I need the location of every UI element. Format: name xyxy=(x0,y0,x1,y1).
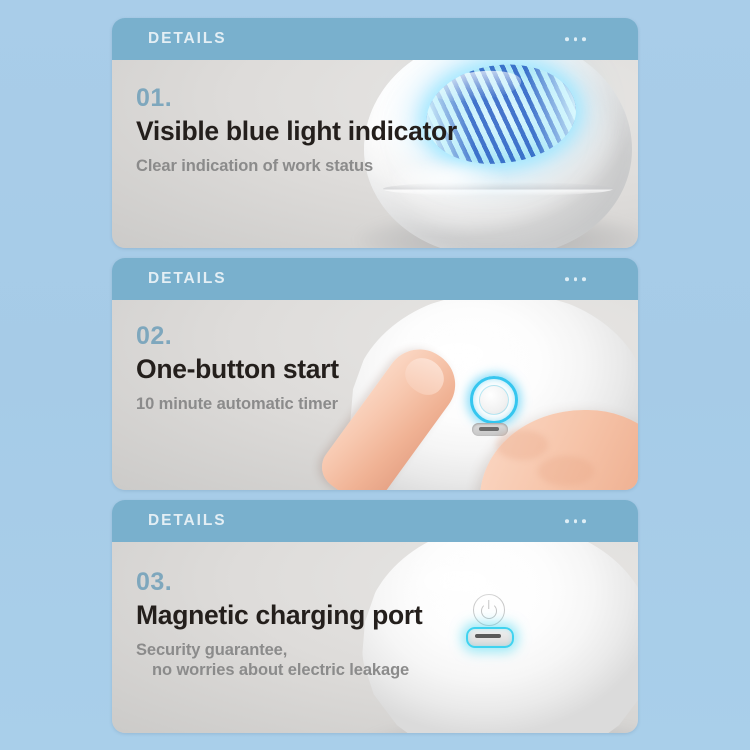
card-header-label: DETAILS xyxy=(148,270,226,288)
detail-card-1: DETAILS 01. V xyxy=(112,18,638,248)
product-image-blue-light-device xyxy=(364,60,632,248)
dot xyxy=(582,277,586,281)
dot xyxy=(582,519,586,523)
magnetic-charging-port xyxy=(466,627,514,648)
charging-port xyxy=(472,423,508,436)
product-image-one-button-device xyxy=(350,300,638,490)
overflow-menu-icon[interactable] xyxy=(565,37,586,41)
card-header-label: DETAILS xyxy=(148,30,226,48)
power-button-icon[interactable] xyxy=(473,594,505,626)
card-header-3: DETAILS xyxy=(112,500,638,542)
card-subtitle-line-1: Security guarantee, xyxy=(136,641,287,659)
device-seam xyxy=(383,182,614,196)
card-header-1: DETAILS xyxy=(112,18,638,60)
dot xyxy=(565,277,569,281)
card-body-1: 01. Visible blue light indicator Clear i… xyxy=(112,60,638,248)
card-subtitle: 10 minute automatic timer xyxy=(136,394,339,414)
card-body-2: 02. One-button start 10 minute automatic… xyxy=(112,300,638,490)
card-header-2: DETAILS xyxy=(112,258,638,300)
blue-light-grille xyxy=(420,60,581,172)
detail-card-2: DETAILS xyxy=(112,258,638,490)
dot xyxy=(574,37,578,41)
text-block-2: 02. One-button start 10 minute automatic… xyxy=(136,324,339,414)
dot xyxy=(582,37,586,41)
card-body-3: 03. Magnetic charging port Security guar… xyxy=(112,542,638,733)
dot xyxy=(565,37,569,41)
dot xyxy=(565,519,569,523)
overflow-menu-icon[interactable] xyxy=(565,277,586,281)
overflow-menu-icon[interactable] xyxy=(565,519,586,523)
product-image-charging-port-device xyxy=(362,542,638,733)
product-details-page: DETAILS 01. V xyxy=(0,0,750,750)
card-headline: One-button start xyxy=(136,356,339,384)
dot xyxy=(574,277,578,281)
detail-card-3: DETAILS 03. Magnetic charging port Secur… xyxy=(112,500,638,733)
card-number: 02. xyxy=(136,324,339,349)
card-header-label: DETAILS xyxy=(148,512,226,530)
dot xyxy=(574,519,578,523)
